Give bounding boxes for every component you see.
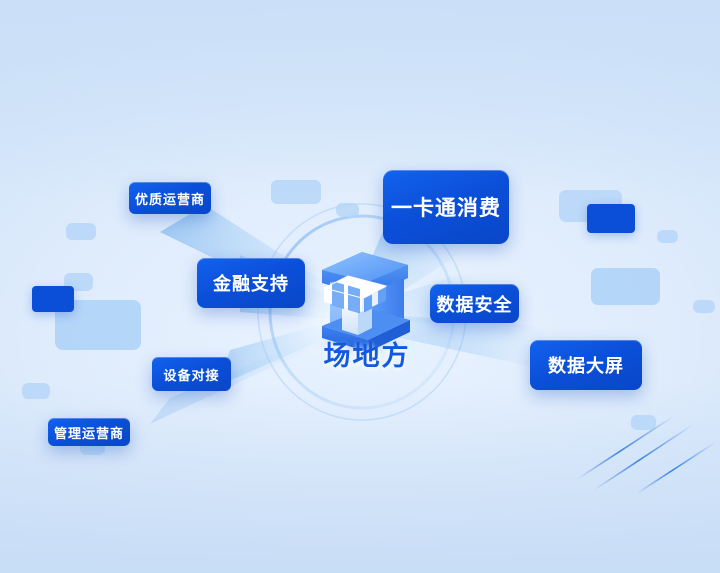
deco-rect-accent: [32, 286, 74, 312]
deco-rect-accent: [587, 204, 635, 233]
node-yikatong[interactable]: 一卡通消费: [383, 170, 509, 244]
node-shebei[interactable]: 设备对接: [152, 357, 231, 391]
node-label: 金融支持: [213, 270, 289, 296]
node-anquan[interactable]: 数据安全: [430, 284, 519, 323]
node-guanli[interactable]: 管理运营商: [48, 418, 130, 446]
deco-rect: [657, 230, 678, 243]
infographic-canvas: 场地方 一卡通消费 金融支持 数据大屏 数据安全 优质运营商 设备对接 管理运营…: [0, 0, 720, 573]
node-label: 一卡通消费: [391, 192, 501, 222]
node-label: 管理运营商: [54, 423, 124, 442]
node-dapin[interactable]: 数据大屏: [530, 340, 642, 390]
deco-rect: [22, 383, 50, 399]
node-label: 数据安全: [437, 291, 513, 317]
node-label: 数据大屏: [548, 352, 624, 378]
deco-rect: [693, 300, 715, 313]
center-node-label: 场地方: [297, 334, 437, 373]
deco-rect: [271, 180, 321, 204]
diagonal-streaks: [570, 408, 720, 498]
node-label: 优质运营商: [135, 189, 205, 208]
node-label: 设备对接: [163, 365, 219, 384]
deco-rect: [336, 203, 359, 217]
deco-rect: [591, 268, 660, 305]
node-jinrong[interactable]: 金融支持: [197, 258, 305, 308]
deco-rect: [66, 223, 96, 240]
node-youzhi[interactable]: 优质运营商: [129, 182, 211, 214]
